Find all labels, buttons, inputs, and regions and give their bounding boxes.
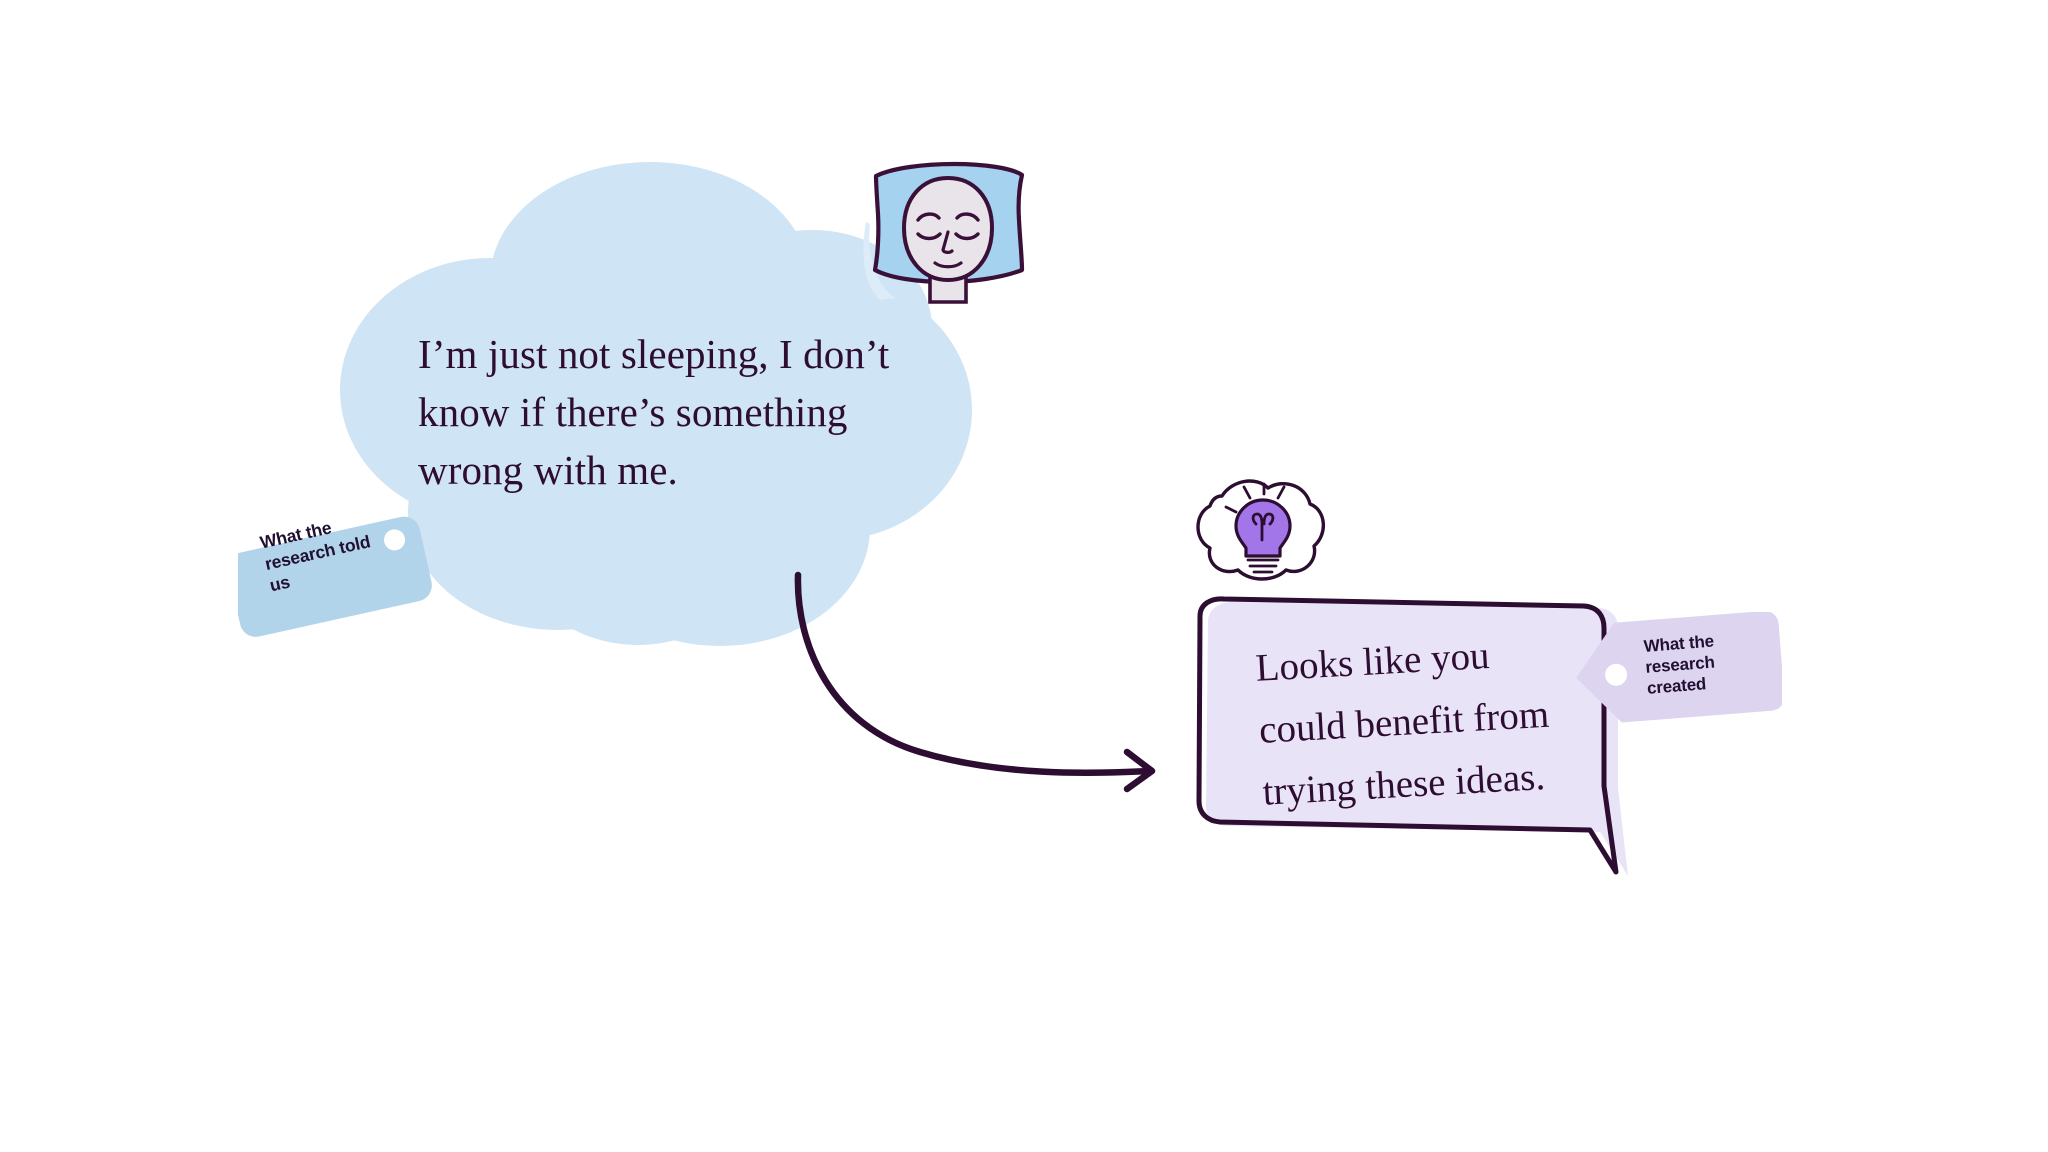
lightbulb-thought-cloud-icon (1180, 472, 1330, 594)
quote-line-3: wrong with me. (418, 441, 938, 499)
patient-quote-text: I’m just not sleeping, I don’t know if t… (418, 325, 938, 499)
illustration-canvas: I’m just not sleeping, I don’t know if t… (0, 0, 2048, 1152)
sleeping-face-icon (862, 158, 1034, 308)
quote-line-1: I’m just not sleeping, I don’t (418, 325, 938, 383)
solution-quote-text: Looks like you could benefit from trying… (1254, 620, 1594, 824)
purple-tag-label: What the research created (1643, 627, 1768, 699)
arrow-svg (770, 550, 1190, 800)
quote-line-2: know if there’s something (418, 383, 938, 441)
curved-arrow-icon (770, 550, 1190, 800)
lightbulb-svg (1180, 472, 1330, 594)
sleeping-face-svg (862, 158, 1034, 308)
